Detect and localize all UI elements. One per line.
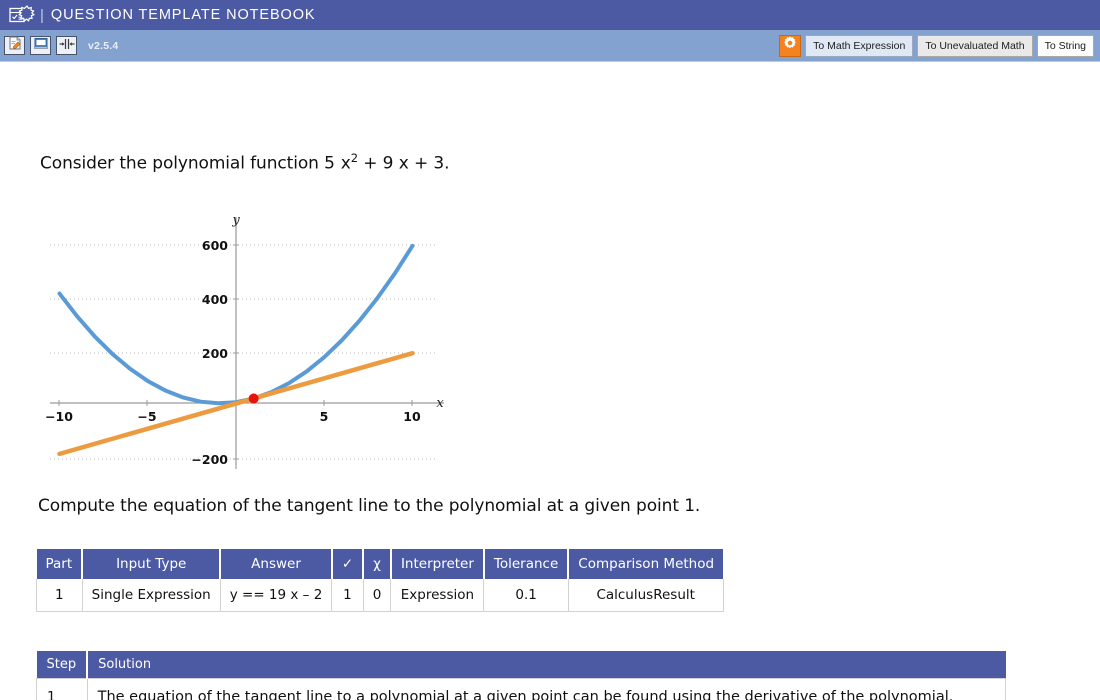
- title-bar: | QUESTION TEMPLATE NOTEBOOK: [0, 0, 1100, 30]
- toolbar-right-group: To Math Expression To Unevaluated Math T…: [779, 35, 1094, 57]
- part-table: Part Input Type Answer ✓ χ Interpreter T…: [36, 549, 724, 612]
- y-axis-label: y: [231, 213, 240, 228]
- open-notebook-button[interactable]: [30, 36, 51, 55]
- question-rest: + 9 x + 3.: [363, 154, 449, 174]
- svg-text:−5: −5: [137, 409, 156, 424]
- x-tick-labels: −10 −5 5 10: [45, 409, 421, 424]
- cell-solution: The equation of the tangent line to a po…: [87, 679, 1005, 700]
- notebook-window: | QUESTION TEMPLATE NOTEBOOK: [0, 0, 1100, 700]
- col-part: Part: [37, 549, 83, 579]
- col-incorrect: χ: [363, 549, 391, 579]
- version-label: v2.5.4: [88, 40, 118, 52]
- question-statement: Consider the polynomial function 5 x2 + …: [40, 151, 449, 174]
- cell-comparison-method: CalculusResult: [568, 579, 723, 612]
- app-logo-icon: [7, 3, 37, 27]
- svg-text:−200: −200: [191, 452, 228, 467]
- title-separator: |: [40, 7, 44, 24]
- tangent-point: [249, 393, 259, 403]
- axes: [50, 217, 444, 469]
- collapse-cells-button[interactable]: [56, 36, 77, 55]
- question-prefix: Consider the polynomial function 5: [40, 154, 335, 174]
- svg-text:5: 5: [320, 409, 329, 424]
- page-title: QUESTION TEMPLATE NOTEBOOK: [51, 7, 316, 23]
- cell-part: 1: [37, 579, 83, 612]
- cell-tolerance: 0.1: [484, 579, 568, 612]
- collapse-cells-icon: [59, 37, 75, 55]
- svg-text:600: 600: [202, 238, 228, 253]
- x-axis-label: x: [436, 396, 444, 411]
- new-question-button[interactable]: [4, 36, 25, 55]
- col-interpreter: Interpreter: [391, 549, 484, 579]
- to-string-button[interactable]: To String: [1037, 35, 1094, 57]
- cell-step: 1: [37, 679, 88, 700]
- new-question-icon: [8, 36, 22, 55]
- to-unevaluated-math-button[interactable]: To Unevaluated Math: [917, 35, 1032, 57]
- col-comparison-method: Comparison Method: [568, 549, 723, 579]
- part-table-header-row: Part Input Type Answer ✓ χ Interpreter T…: [37, 549, 724, 579]
- plot-svg: −10 −5 5 10 600 400 200 −200 y x: [36, 207, 456, 477]
- y-tick-labels: 600 400 200 −200: [191, 238, 228, 467]
- gear-icon: [783, 36, 797, 55]
- question-exponent: 2: [351, 151, 358, 165]
- question-variable: x: [341, 154, 351, 174]
- svg-text:200: 200: [202, 346, 228, 361]
- settings-button[interactable]: [779, 35, 801, 57]
- svg-text:−10: −10: [45, 409, 73, 424]
- col-correct: ✓: [332, 549, 363, 579]
- cell-incorrect: 0: [363, 579, 391, 612]
- notebook-icon: [34, 36, 48, 55]
- table-row[interactable]: 1 Single Expression y == 19 x – 2 1 0 Ex…: [37, 579, 724, 612]
- col-tolerance: Tolerance: [484, 549, 568, 579]
- col-input-type: Input Type: [82, 549, 220, 579]
- task-statement: Compute the equation of the tangent line…: [38, 496, 700, 516]
- col-solution: Solution: [87, 651, 1005, 679]
- solution-table: Step Solution 1 The equation of the tang…: [36, 651, 1006, 700]
- to-math-expression-button[interactable]: To Math Expression: [805, 35, 913, 57]
- cell-interpreter: Expression: [391, 579, 484, 612]
- svg-text:400: 400: [202, 292, 228, 307]
- cell-answer: y == 19 x – 2: [220, 579, 332, 612]
- svg-text:10: 10: [403, 409, 421, 424]
- cell-input-type: Single Expression: [82, 579, 220, 612]
- cell-correct: 1: [332, 579, 363, 612]
- col-answer: Answer: [220, 549, 332, 579]
- col-step: Step: [37, 651, 88, 679]
- table-row[interactable]: 1 The equation of the tangent line to a …: [37, 679, 1006, 700]
- function-plot: −10 −5 5 10 600 400 200 −200 y x: [36, 207, 456, 477]
- toolbar: v2.5.4 To Math Expression To Unevaluated…: [0, 30, 1100, 62]
- solution-table-header-row: Step Solution: [37, 651, 1006, 679]
